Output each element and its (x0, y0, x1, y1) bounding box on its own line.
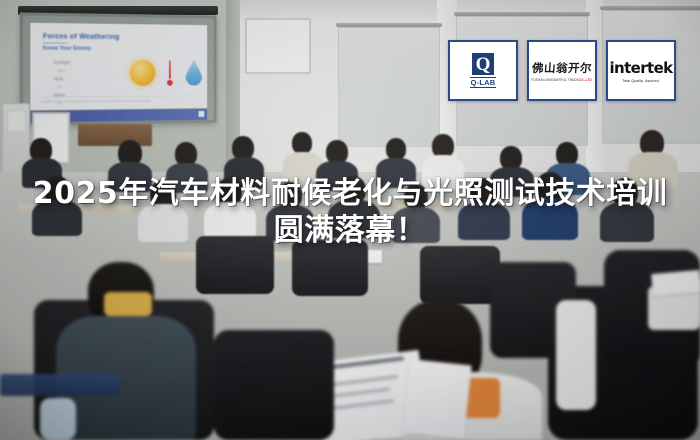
intertek-wordmark: intertek (609, 59, 672, 77)
overlay-title-line-1: 2025年汽车材料耐候老化与光照测试技术培训 (0, 176, 700, 212)
slide-footer-mark (199, 111, 205, 117)
logo-strip: Q Q-LAB 佛山翁开尔 FOSHAN WONDERFUL TRADECO.,… (448, 40, 676, 101)
slide-bullet: Who (57, 68, 70, 73)
q-lab-mark-letter: Q (476, 55, 491, 74)
slide-divider (41, 95, 198, 97)
sun-icon (130, 60, 155, 86)
slide-canvas: Forces of Weathering Know Your Enemy Sun… (30, 23, 207, 110)
thermometer-icon (167, 60, 173, 86)
slide-title: Forces of Weathering (43, 33, 120, 41)
intertek-tagline: Total Quality. Assured. (622, 79, 660, 83)
slide-footnote: Relative amount of weathering is not the… (41, 99, 151, 104)
slide-subtitle: Know Your Enemy (43, 45, 91, 51)
lectern (78, 124, 152, 146)
q-lab-wordmark: Q-LAB (470, 77, 497, 88)
overlay-title-line-2: 圆满落幕！ (0, 212, 700, 250)
foshan-wonderful-wordmark-cn: 佛山翁开尔 (531, 60, 592, 76)
water-drop-icon (185, 59, 202, 85)
promo-image: Forces of Weathering Know Your Enemy Sun… (0, 0, 700, 440)
window-blind-1 (338, 27, 440, 147)
q-lab-logo: Q Q-LAB (448, 40, 518, 101)
slide-bullet: Or (57, 84, 70, 89)
projection-screen: Forces of Weathering Know Your Enemy Sun… (20, 12, 217, 125)
slide-bullet: Sunlight (53, 60, 70, 65)
foshan-wonderful-wordmark-en: FOSHAN WONDERFUL TRADECO.,LTD (532, 78, 593, 82)
intertek-logo: intertek Total Quality. Assured. (606, 40, 676, 101)
foshan-wonderful-en-accent: CO.,LTD (579, 78, 592, 82)
whiteboard (245, 18, 311, 74)
q-lab-mark: Q (472, 53, 494, 75)
slide-rule (43, 42, 68, 43)
foshan-wonderful-logo: 佛山翁开尔 FOSHAN WONDERFUL TRADECO.,LTD (527, 40, 597, 101)
overlay-title: 2025年汽车材料耐候老化与光照测试技术培训 圆满落幕！ (0, 176, 700, 250)
foshan-wonderful-en-prefix: FOSHAN WONDERFUL TRADE (532, 78, 580, 82)
slide-bullet: Heat (53, 76, 70, 81)
